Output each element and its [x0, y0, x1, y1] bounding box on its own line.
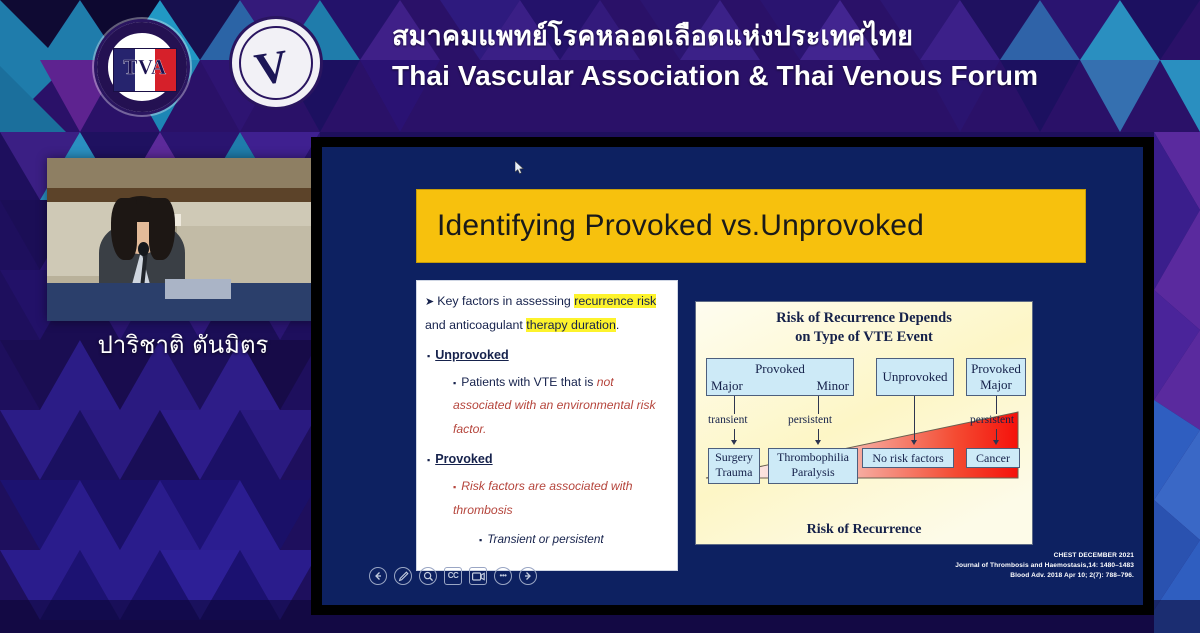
laptop [165, 279, 231, 299]
event-box-provoked-minor: Minor [817, 378, 850, 394]
tva-logo: TVA [94, 19, 190, 115]
connector-label-persistent-2: persistent [970, 414, 1014, 426]
slide-toolbar[interactable]: CC ••• [369, 567, 537, 585]
event-box-provoked: Provoked Major Minor [706, 358, 854, 396]
citation-line-3: Blood Adv. 2018 Apr 10; 2(7): 788–796. [862, 571, 1134, 581]
thai-venous-forum-logo: V [229, 16, 323, 110]
arrow-bullet-icon: ➤ [425, 296, 434, 308]
event-box-provoked-major-line2: Major [967, 377, 1025, 393]
connector-line-1b [734, 429, 735, 440]
event-box-provoked-label: Provoked [707, 361, 853, 377]
connector-line-4 [996, 396, 997, 414]
bullet-provoked-detail: ▪Risk factors are associated with thromb… [453, 475, 669, 523]
broadcast-screen: TVA V สมาคมแพทย์โรคหลอดเลือดแห่งประเทศไท… [0, 0, 1200, 633]
square-bullet-icon: ▪ [479, 535, 482, 545]
diagram-title: Risk of Recurrence Depends on Type of VT… [696, 309, 1032, 347]
square-bullet-icon: ▪ [427, 455, 430, 465]
diagram-title-line2: on Type of VTE Event [696, 328, 1032, 347]
microphone-head [138, 242, 149, 256]
provoked-detail-text: Risk factors are associated with thrombo… [453, 479, 633, 517]
arrow-head-3 [911, 440, 917, 445]
arrow-head-1 [731, 440, 737, 445]
square-bullet-icon: ▪ [427, 351, 430, 361]
outcome-box-thrombophilia-paralysis: Thrombophilia Paralysis [768, 448, 858, 484]
event-box-provoked-major: Major [711, 378, 743, 394]
event-box-provoked-major-line1: Provoked [967, 361, 1025, 377]
outcome-trauma: Trauma [709, 465, 759, 480]
square-bullet-icon: ▪ [453, 378, 456, 388]
room-upper-wall [47, 158, 319, 188]
tva-logo-text: TVA [113, 55, 177, 80]
pen-annotate-icon[interactable] [394, 567, 412, 585]
outcome-paralysis: Paralysis [769, 465, 857, 480]
transient-persistent-text: Transient or persistent [487, 532, 604, 546]
outcome-thrombophilia: Thrombophilia [769, 450, 857, 465]
outcome-cancer: Cancer [976, 451, 1010, 466]
zoom-magnifier-icon[interactable] [419, 567, 437, 585]
risk-of-recurrence-diagram: Risk of Recurrence Depends on Type of VT… [695, 301, 1033, 545]
section-provoked: ▪Provoked [423, 452, 669, 466]
outcome-surgery: Surgery [709, 450, 759, 465]
section-provoked-label: Provoked [435, 452, 492, 466]
mouse-cursor-icon [515, 161, 525, 175]
slide-title-text: Identifying Provoked vs.Unprovoked [417, 209, 924, 243]
square-bullet-icon: ▪ [453, 482, 456, 492]
slide-text-panel: ➤Key factors in assessing recurrence ris… [416, 280, 678, 571]
connector-line-1 [734, 396, 735, 414]
citation-line-1: CHEST DECEMBER 2021 [862, 551, 1134, 561]
header-titles: สมาคมแพทย์โรคหลอดเลือดแห่งประเทศไทย Thai… [392, 22, 1092, 93]
citation-line-2: Journal of Thrombosis and Haemostasis,14… [862, 561, 1134, 571]
outcome-box-surgery-trauma: Surgery Trauma [708, 448, 760, 484]
event-header: TVA V สมาคมแพทย์โรคหลอดเลือดแห่งประเทศไท… [0, 0, 1200, 132]
speaker-name-label: ปาริชาติ ตันมิตร [47, 325, 319, 364]
speaker-video-tile[interactable] [47, 158, 319, 321]
connector-line-4b [996, 429, 997, 440]
event-box-unprovoked-label: Unprovoked [883, 369, 948, 385]
video-camera-icon[interactable] [469, 567, 487, 585]
more-options-icon[interactable]: ••• [494, 567, 512, 585]
outcome-no-risk-factors: No risk factors [872, 451, 943, 466]
diagram-axis-label: Risk of Recurrence [696, 522, 1032, 538]
connector-label-persistent-1: persistent [788, 414, 832, 426]
next-slide-icon[interactable] [519, 567, 537, 585]
slide-citation: CHEST DECEMBER 2021 Journal of Thrombosi… [862, 551, 1134, 582]
connector-line-2b [818, 429, 819, 440]
diagram-title-line1: Risk of Recurrence Depends [696, 309, 1032, 328]
bullet-unprovoked-detail: ▪Patients with VTE that is not associate… [453, 371, 669, 442]
event-box-provoked-major: Provoked Major [966, 358, 1026, 396]
arrow-head-4 [993, 440, 999, 445]
slide-frame: Identifying Provoked vs.Unprovoked ➤Key … [311, 137, 1154, 615]
section-unprovoked-label: Unprovoked [435, 348, 508, 362]
unprovoked-detail-dark: Patients with VTE that is [461, 375, 596, 389]
header-english-title: Thai Vascular Association & Thai Venous … [392, 58, 1092, 93]
connector-line-2 [818, 396, 819, 414]
highlight-therapy-duration: therapy duration [526, 318, 616, 332]
slide-title-banner: Identifying Provoked vs.Unprovoked [416, 189, 1086, 263]
lead-text-c: . [616, 318, 619, 332]
outcome-box-cancer: Cancer [966, 448, 1020, 468]
presentation-slide[interactable]: Identifying Provoked vs.Unprovoked ➤Key … [322, 147, 1143, 605]
event-box-unprovoked: Unprovoked [876, 358, 954, 396]
arrow-head-2 [815, 440, 821, 445]
highlight-recurrence-risk: recurrence risk [574, 294, 656, 308]
lead-text-b: and anticoagulant [425, 318, 526, 332]
connector-line-3 [914, 396, 915, 440]
bullet-transient-persistent: ▪Transient or persistent [479, 532, 669, 546]
bullet-key-factors: ➤Key factors in assessing recurrence ris… [423, 289, 669, 338]
lead-text-a: Key factors in assessing [437, 294, 574, 308]
speaker-hair-left [111, 198, 137, 260]
closed-caption-icon[interactable]: CC [444, 567, 462, 585]
previous-slide-icon[interactable] [369, 567, 387, 585]
speaker-hair-right [149, 198, 175, 260]
connector-label-transient: transient [708, 414, 748, 426]
section-unprovoked: ▪Unprovoked [423, 348, 669, 362]
header-thai-title: สมาคมแพทย์โรคหลอดเลือดแห่งประเทศไทย [392, 22, 1092, 52]
room-wood-trim [47, 188, 319, 202]
outcome-box-no-risk-factors: No risk factors [862, 448, 954, 468]
